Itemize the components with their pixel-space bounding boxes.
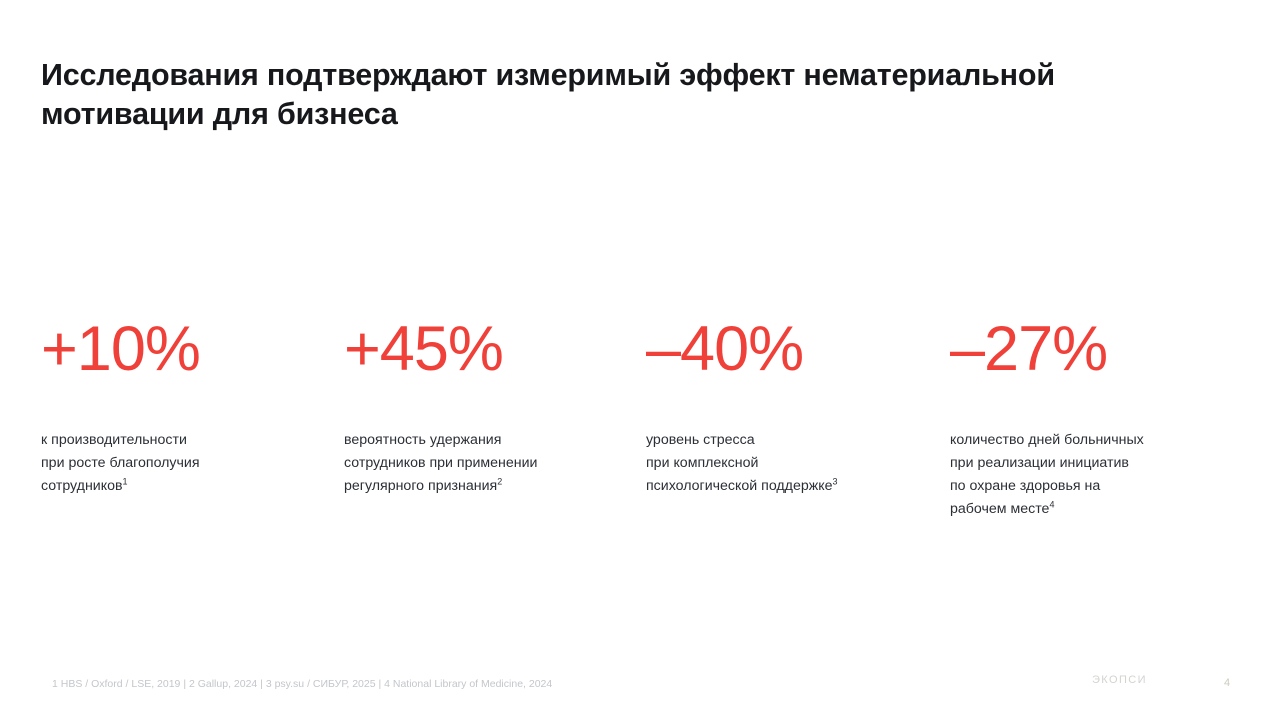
footnote-sources: 1 HBS / Oxford / LSE, 2019 | 2 Gallup, 2… bbox=[52, 678, 552, 691]
footnote-marker: 2 bbox=[497, 476, 502, 486]
footnote-marker: 1 bbox=[123, 476, 128, 486]
stat-block-stress: –40% уровень стресса при комплексной пси… bbox=[646, 318, 946, 498]
stat-caption-text: количество дней больничных при реализаци… bbox=[950, 432, 1144, 517]
stat-caption: к производительности при росте благополу… bbox=[41, 429, 331, 498]
stat-block-retention: +45% вероятность удержания сотрудников п… bbox=[344, 318, 639, 498]
stat-block-sick-days: –27% количество дней больничных при реал… bbox=[950, 318, 1250, 521]
stat-caption-text: уровень стресса при комплексной психолог… bbox=[646, 432, 833, 494]
stat-caption: вероятность удержания сотрудников при пр… bbox=[344, 429, 639, 498]
stat-block-productivity: +10% к производительности при росте благ… bbox=[41, 318, 331, 498]
stat-caption-text: вероятность удержания сотрудников при пр… bbox=[344, 432, 537, 494]
stat-value: +45% bbox=[344, 318, 639, 381]
stat-caption-text: к производительности при росте благополу… bbox=[41, 432, 200, 494]
slide: Исследования подтверждают измеримый эффе… bbox=[0, 0, 1273, 718]
page-number: 4 bbox=[1224, 677, 1230, 689]
footnote-marker: 4 bbox=[1049, 499, 1054, 509]
statistics-row: +10% к производительности при росте благ… bbox=[0, 318, 1273, 548]
page-title: Исследования подтверждают измеримый эффе… bbox=[41, 56, 1201, 134]
stat-caption: уровень стресса при комплексной психолог… bbox=[646, 429, 946, 498]
stat-value: –40% bbox=[646, 318, 946, 381]
stat-value: +10% bbox=[41, 318, 331, 381]
stat-caption: количество дней больничных при реализаци… bbox=[950, 429, 1250, 521]
stat-value: –27% bbox=[950, 318, 1250, 381]
brand-logo: ЭКОПСИ bbox=[1092, 674, 1147, 686]
footnote-marker: 3 bbox=[833, 476, 838, 486]
